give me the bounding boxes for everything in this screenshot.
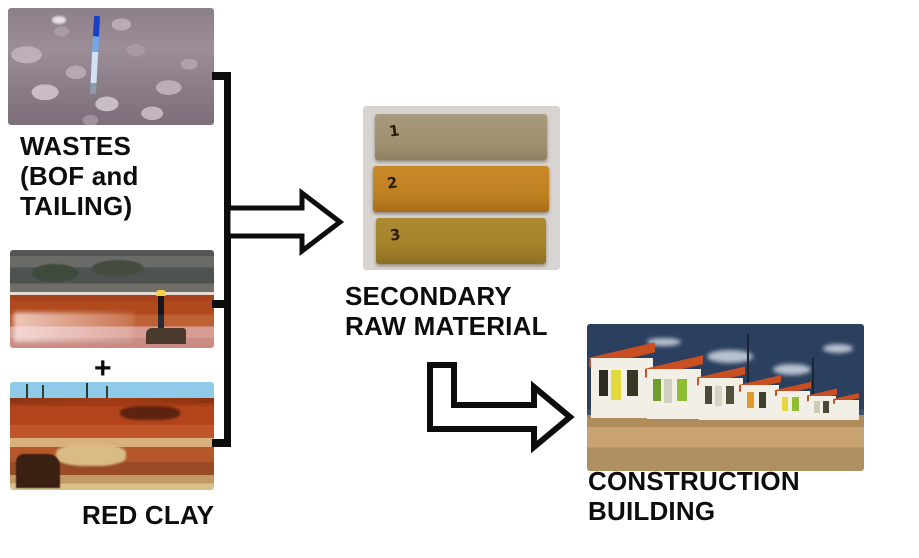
arrow-secondary-raw-material-to-construction [430, 365, 570, 447]
flow-connectors [0, 0, 919, 558]
input-grouping-bracket [212, 72, 231, 447]
arrow-wastes-to-secondary-raw-material [228, 193, 340, 251]
diagram-canvas: WASTES (BOF and TAILING) + RED CLAY 1 2 … [0, 0, 919, 558]
